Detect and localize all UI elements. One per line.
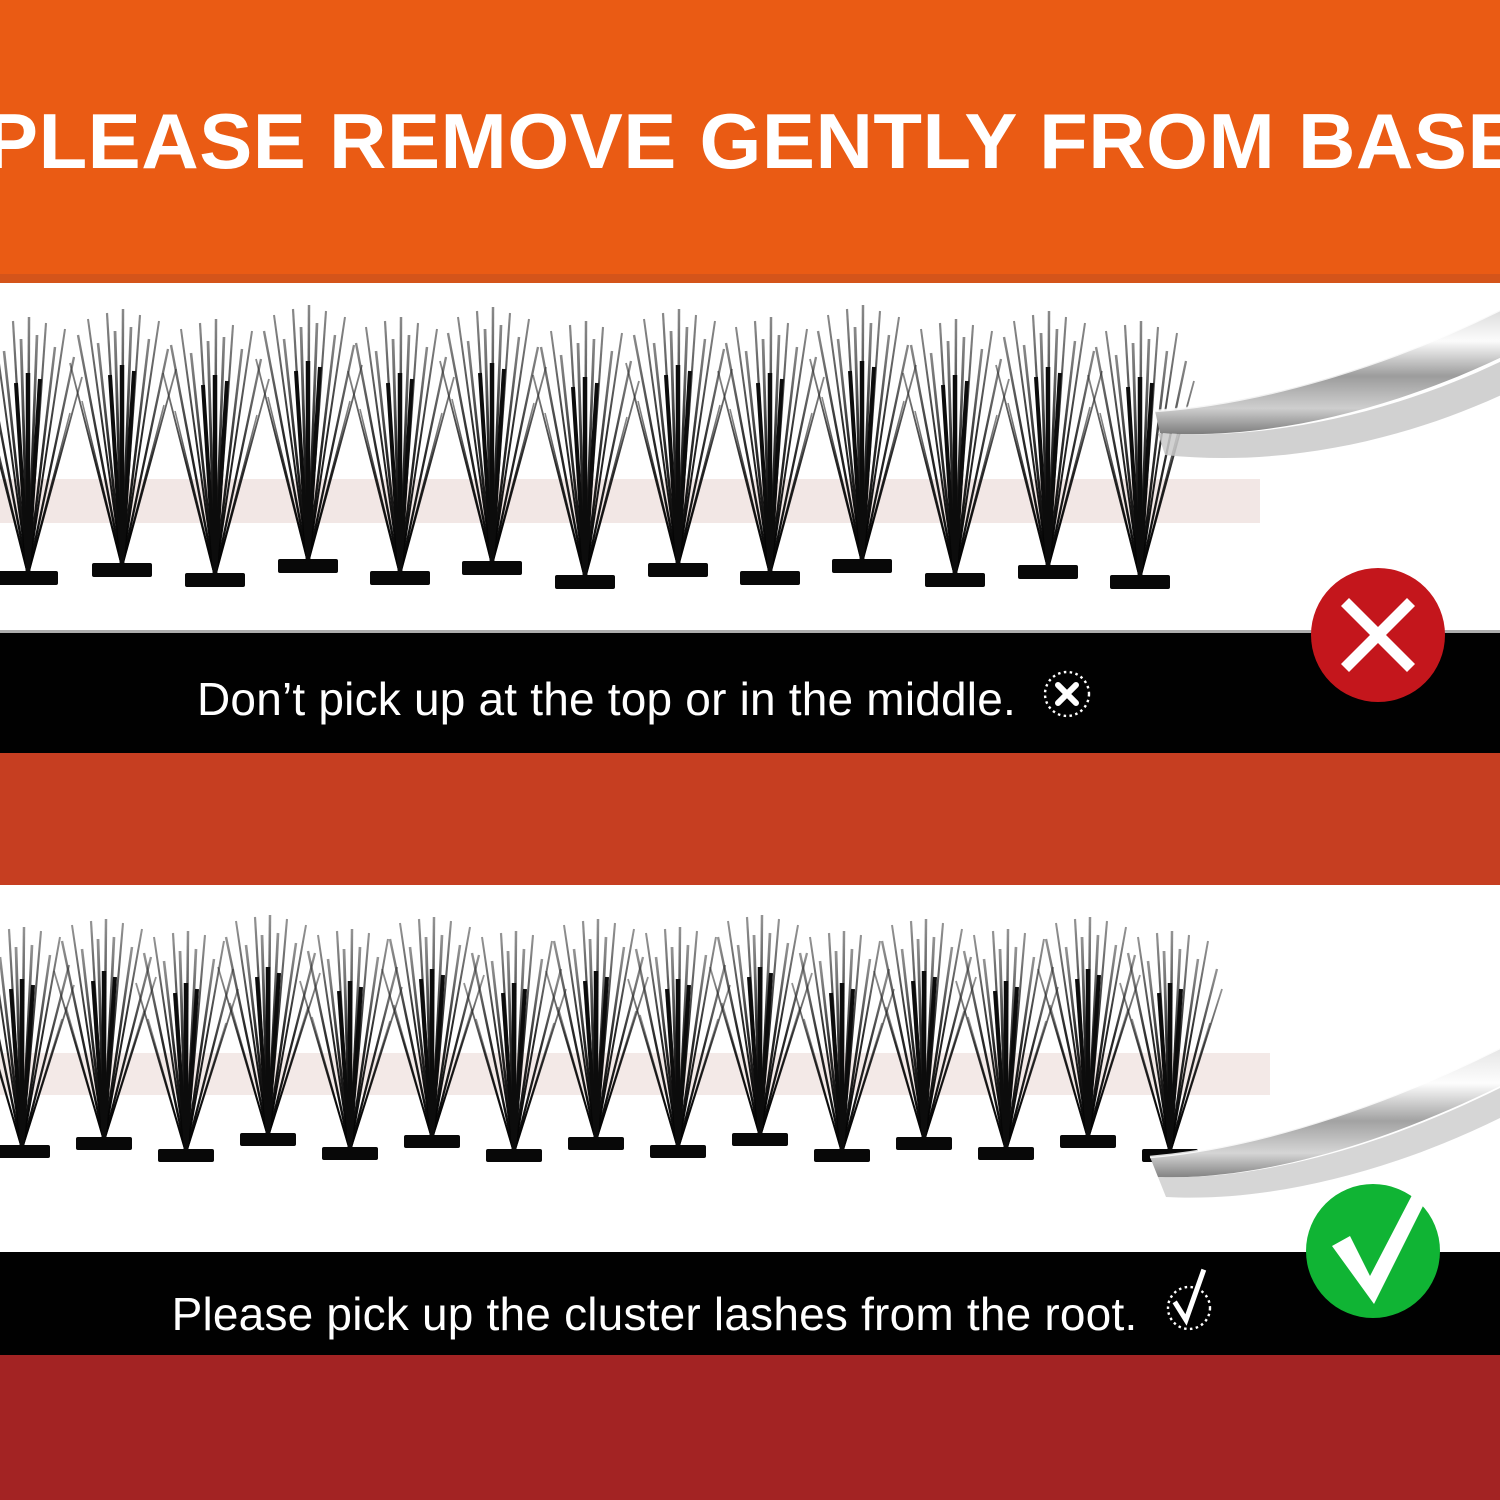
header-banner: PLEASE REMOVE GENTLY FROM BASE — [0, 0, 1500, 283]
circled-x-mark — [1041, 665, 1093, 732]
caption-incorrect: Don’t pick up at the top or in the middl… — [0, 665, 1290, 732]
red-x-badge — [1311, 568, 1445, 702]
x-icon — [1311, 568, 1445, 702]
caption-correct-text: Please pick up the cluster lashes from t… — [172, 1288, 1138, 1340]
lash-strip-bottom-illustration — [0, 885, 1500, 1252]
circled-check-mark — [1162, 1268, 1218, 1349]
lash-photo-correct — [0, 885, 1500, 1252]
caption-correct: Please pick up the cluster lashes from t… — [0, 1268, 1390, 1349]
page-title: PLEASE REMOVE GENTLY FROM BASE — [0, 96, 1500, 186]
divider-band-middle — [0, 753, 1500, 885]
lash-clusters-bottom — [0, 915, 1222, 1162]
lash-photo-incorrect — [0, 283, 1500, 630]
lash-strip-top-illustration — [0, 283, 1500, 630]
product-instruction-image: PLEASE REMOVE GENTLY FROM BASE — [0, 0, 1500, 1500]
green-check-badge — [1306, 1184, 1440, 1318]
caption-incorrect-text: Don’t pick up at the top or in the middl… — [197, 673, 1016, 725]
header-banner-bottom-edge — [0, 274, 1500, 283]
divider-band-bottom — [0, 1355, 1500, 1500]
tweezer-top — [1155, 305, 1500, 458]
lash-clusters-top — [0, 305, 1194, 589]
